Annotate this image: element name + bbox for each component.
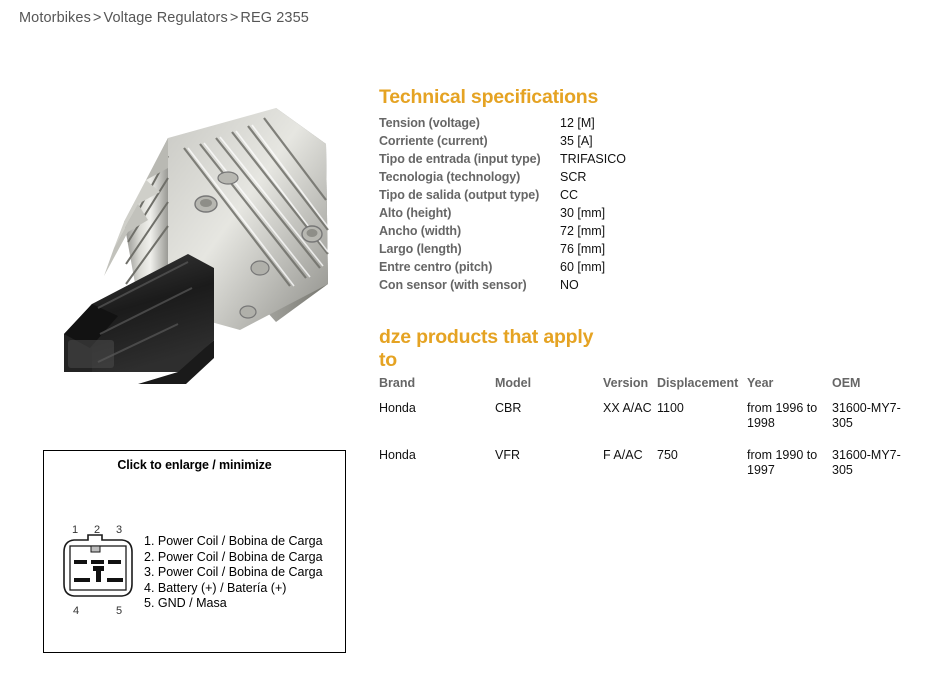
- table-header-row: Brand Model Version Displacement Year OE…: [379, 376, 902, 401]
- spec-value: 76 [mm]: [560, 240, 605, 258]
- spec-row-tipo-de-salida: Tipo de salida (output type) CC: [379, 186, 629, 204]
- spec-label: Tipo de entrada (input type): [379, 152, 541, 166]
- cell-brand: Honda: [379, 401, 495, 448]
- pin-item-5: 5. GND / Masa: [144, 596, 323, 612]
- cell-model: CBR: [495, 401, 603, 448]
- spec-row-tipo-de-entrada: Tipo de entrada (input type) TRIFASICO: [379, 150, 629, 168]
- breadcrumb-separator: >: [91, 10, 104, 26]
- breadcrumb: Motorbikes>Voltage Regulators>REG 2355: [19, 10, 309, 26]
- spec-value: 60 [mm]: [560, 258, 605, 276]
- table-row[interactable]: Honda VFR F A/AC 750 from 1990 to 1997 3…: [379, 448, 902, 495]
- column-header-year: Year: [747, 376, 832, 401]
- table-row[interactable]: Honda CBR XX A/AC 1100 from 1996 to 1998…: [379, 401, 902, 448]
- breadcrumb-item-reg-2355: REG 2355: [240, 10, 309, 26]
- column-header-displacement: Displacement: [657, 376, 747, 401]
- svg-text:3: 3: [116, 524, 122, 536]
- column-header-model: Model: [495, 376, 603, 401]
- products-apply-title: dze products that apply to: [379, 326, 611, 372]
- spec-label: Corriente (current): [379, 134, 488, 148]
- connector-diagram-icon[interactable]: 1 2 3: [58, 522, 150, 617]
- spec-row-tension: Tension (voltage) 12 [M]: [379, 114, 629, 132]
- svg-text:5: 5: [116, 605, 122, 617]
- page-root: Motorbikes>Voltage Regulators>REG 2355: [0, 0, 939, 680]
- spec-label: Tecnologia (technology): [379, 170, 520, 184]
- spec-label: Largo (length): [379, 242, 462, 256]
- spec-value: SCR: [560, 168, 586, 186]
- technical-specifications-title: Technical specifications: [379, 86, 629, 109]
- spec-row-corriente: Corriente (current) 35 [A]: [379, 132, 629, 150]
- spec-value: 30 [mm]: [560, 204, 605, 222]
- pin-item-3: 3. Power Coil / Bobina de Carga: [144, 565, 323, 581]
- click-to-enlarge-label[interactable]: Click to enlarge / minimize: [44, 458, 345, 472]
- spec-label: Alto (height): [379, 206, 451, 220]
- spec-row-tecnologia: Tecnologia (technology) SCR: [379, 168, 629, 186]
- pin-item-1: 1. Power Coil / Bobina de Carga: [144, 534, 323, 550]
- pin-item-4: 4. Battery (+) / Batería (+): [144, 581, 323, 597]
- spec-label: Entre centro (pitch): [379, 260, 492, 274]
- product-image[interactable]: [28, 72, 368, 390]
- cell-version: F A/AC: [603, 448, 657, 495]
- spec-row-entre-centro: Entre centro (pitch) 60 [mm]: [379, 258, 629, 276]
- column-header-version: Version: [603, 376, 657, 401]
- products-apply-section: dze products that apply to Brand Model V…: [379, 326, 902, 495]
- spec-value: CC: [560, 186, 578, 204]
- spec-value: 72 [mm]: [560, 222, 605, 240]
- cell-model: VFR: [495, 448, 603, 495]
- cell-brand: Honda: [379, 448, 495, 495]
- svg-text:4: 4: [73, 605, 79, 617]
- spec-row-con-sensor: Con sensor (with sensor) NO: [379, 276, 629, 294]
- pin-item-2: 2. Power Coil / Bobina de Carga: [144, 550, 323, 566]
- cell-displacement: 750: [657, 448, 747, 495]
- spec-row-ancho: Ancho (width) 72 [mm]: [379, 222, 629, 240]
- breadcrumb-separator: >: [228, 10, 241, 26]
- column-header-oem: OEM: [832, 376, 902, 401]
- spec-label: Tipo de salida (output type): [379, 188, 539, 202]
- spec-value: 35 [A]: [560, 132, 593, 150]
- cell-oem: 31600-MY7-305: [832, 448, 902, 495]
- connector-pinout-panel[interactable]: Click to enlarge / minimize 1 2 3: [43, 450, 346, 653]
- applications-table: Brand Model Version Displacement Year OE…: [379, 376, 902, 495]
- spec-row-alto: Alto (height) 30 [mm]: [379, 204, 629, 222]
- technical-specifications-section: Technical specifications Tension (voltag…: [379, 86, 629, 294]
- cell-year: from 1996 to 1998: [747, 401, 832, 448]
- column-header-brand: Brand: [379, 376, 495, 401]
- breadcrumb-item-voltage-regulators[interactable]: Voltage Regulators: [104, 10, 228, 26]
- spec-row-largo: Largo (length) 76 [mm]: [379, 240, 629, 258]
- cell-year: from 1990 to 1997: [747, 448, 832, 495]
- cell-oem: 31600-MY7-305: [832, 401, 902, 448]
- pinout-legend: 1. Power Coil / Bobina de Carga 2. Power…: [144, 534, 323, 612]
- spec-value: 12 [M]: [560, 114, 595, 132]
- breadcrumb-item-motorbikes[interactable]: Motorbikes: [19, 10, 91, 26]
- spec-label: Con sensor (with sensor): [379, 278, 527, 292]
- connector-body: 1 2 3: [44, 472, 345, 642]
- cell-displacement: 1100: [657, 401, 747, 448]
- spec-value: NO: [560, 276, 579, 294]
- spec-label: Ancho (width): [379, 224, 461, 238]
- cell-version: XX A/AC: [603, 401, 657, 448]
- spec-label: Tension (voltage): [379, 116, 480, 130]
- spec-value: TRIFASICO: [560, 150, 626, 168]
- svg-text:1: 1: [72, 524, 78, 536]
